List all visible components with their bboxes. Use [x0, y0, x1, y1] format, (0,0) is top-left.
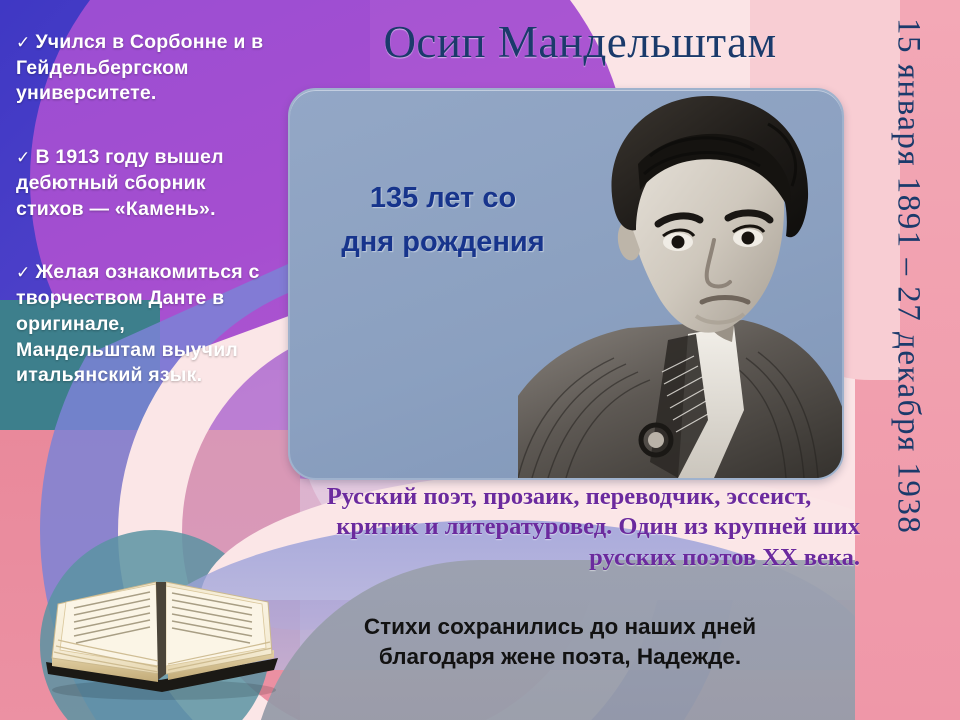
- check-icon: ✓: [16, 263, 30, 282]
- bottom-note: Стихи сохранились до наших дней благодар…: [280, 612, 840, 672]
- list-item: ✓Учился в Сорбонне и в Гейдельбергском у…: [16, 30, 266, 107]
- portrait-photo-icon: [518, 90, 844, 478]
- check-icon: ✓: [16, 148, 30, 167]
- check-icon: ✓: [16, 33, 30, 52]
- list-item-label: Учился в Сорбонне и в Гейдельбергском ун…: [16, 31, 263, 104]
- description-line-1: Русский поэт, прозаик, переводчик, эссеи…: [278, 482, 860, 512]
- list-item: ✓В 1913 году вышел дебютный сборник стих…: [16, 145, 266, 222]
- list-item-label: Желая ознакомиться с творчеством Данте в…: [16, 261, 260, 386]
- page-title: Осип Мандельштам: [290, 16, 870, 68]
- life-dates: 15 января 1891 – 27 декабря 1938: [890, 0, 927, 534]
- fact-list: ✓Учился в Сорбонне и в Гейдельбергском у…: [16, 30, 266, 427]
- poet-description: Русский поэт, прозаик, переводчик, эссеи…: [278, 482, 860, 573]
- bottom-note-line-2: благодаря жене поэта, Надежде.: [280, 642, 840, 672]
- description-line-3: русских поэтов XX века.: [589, 544, 860, 571]
- presentation-slide: Осип Мандельштам ✓Учился в Сорбонне и в …: [0, 0, 960, 720]
- portrait-panel: 135 лет со дня рождения: [288, 88, 844, 480]
- open-book-icon: [38, 562, 288, 702]
- bottom-note-line-1: Стихи сохранились до наших дней: [280, 612, 840, 642]
- list-item-label: В 1913 году вышел дебютный сборник стихо…: [16, 146, 224, 219]
- list-item: ✓Желая ознакомиться с творчеством Данте …: [16, 260, 266, 389]
- description-line-2: критик и литературовед. Один из крупней …: [336, 513, 860, 540]
- date-ribbon: 15 января 1891 – 27 декабря 1938: [862, 0, 954, 720]
